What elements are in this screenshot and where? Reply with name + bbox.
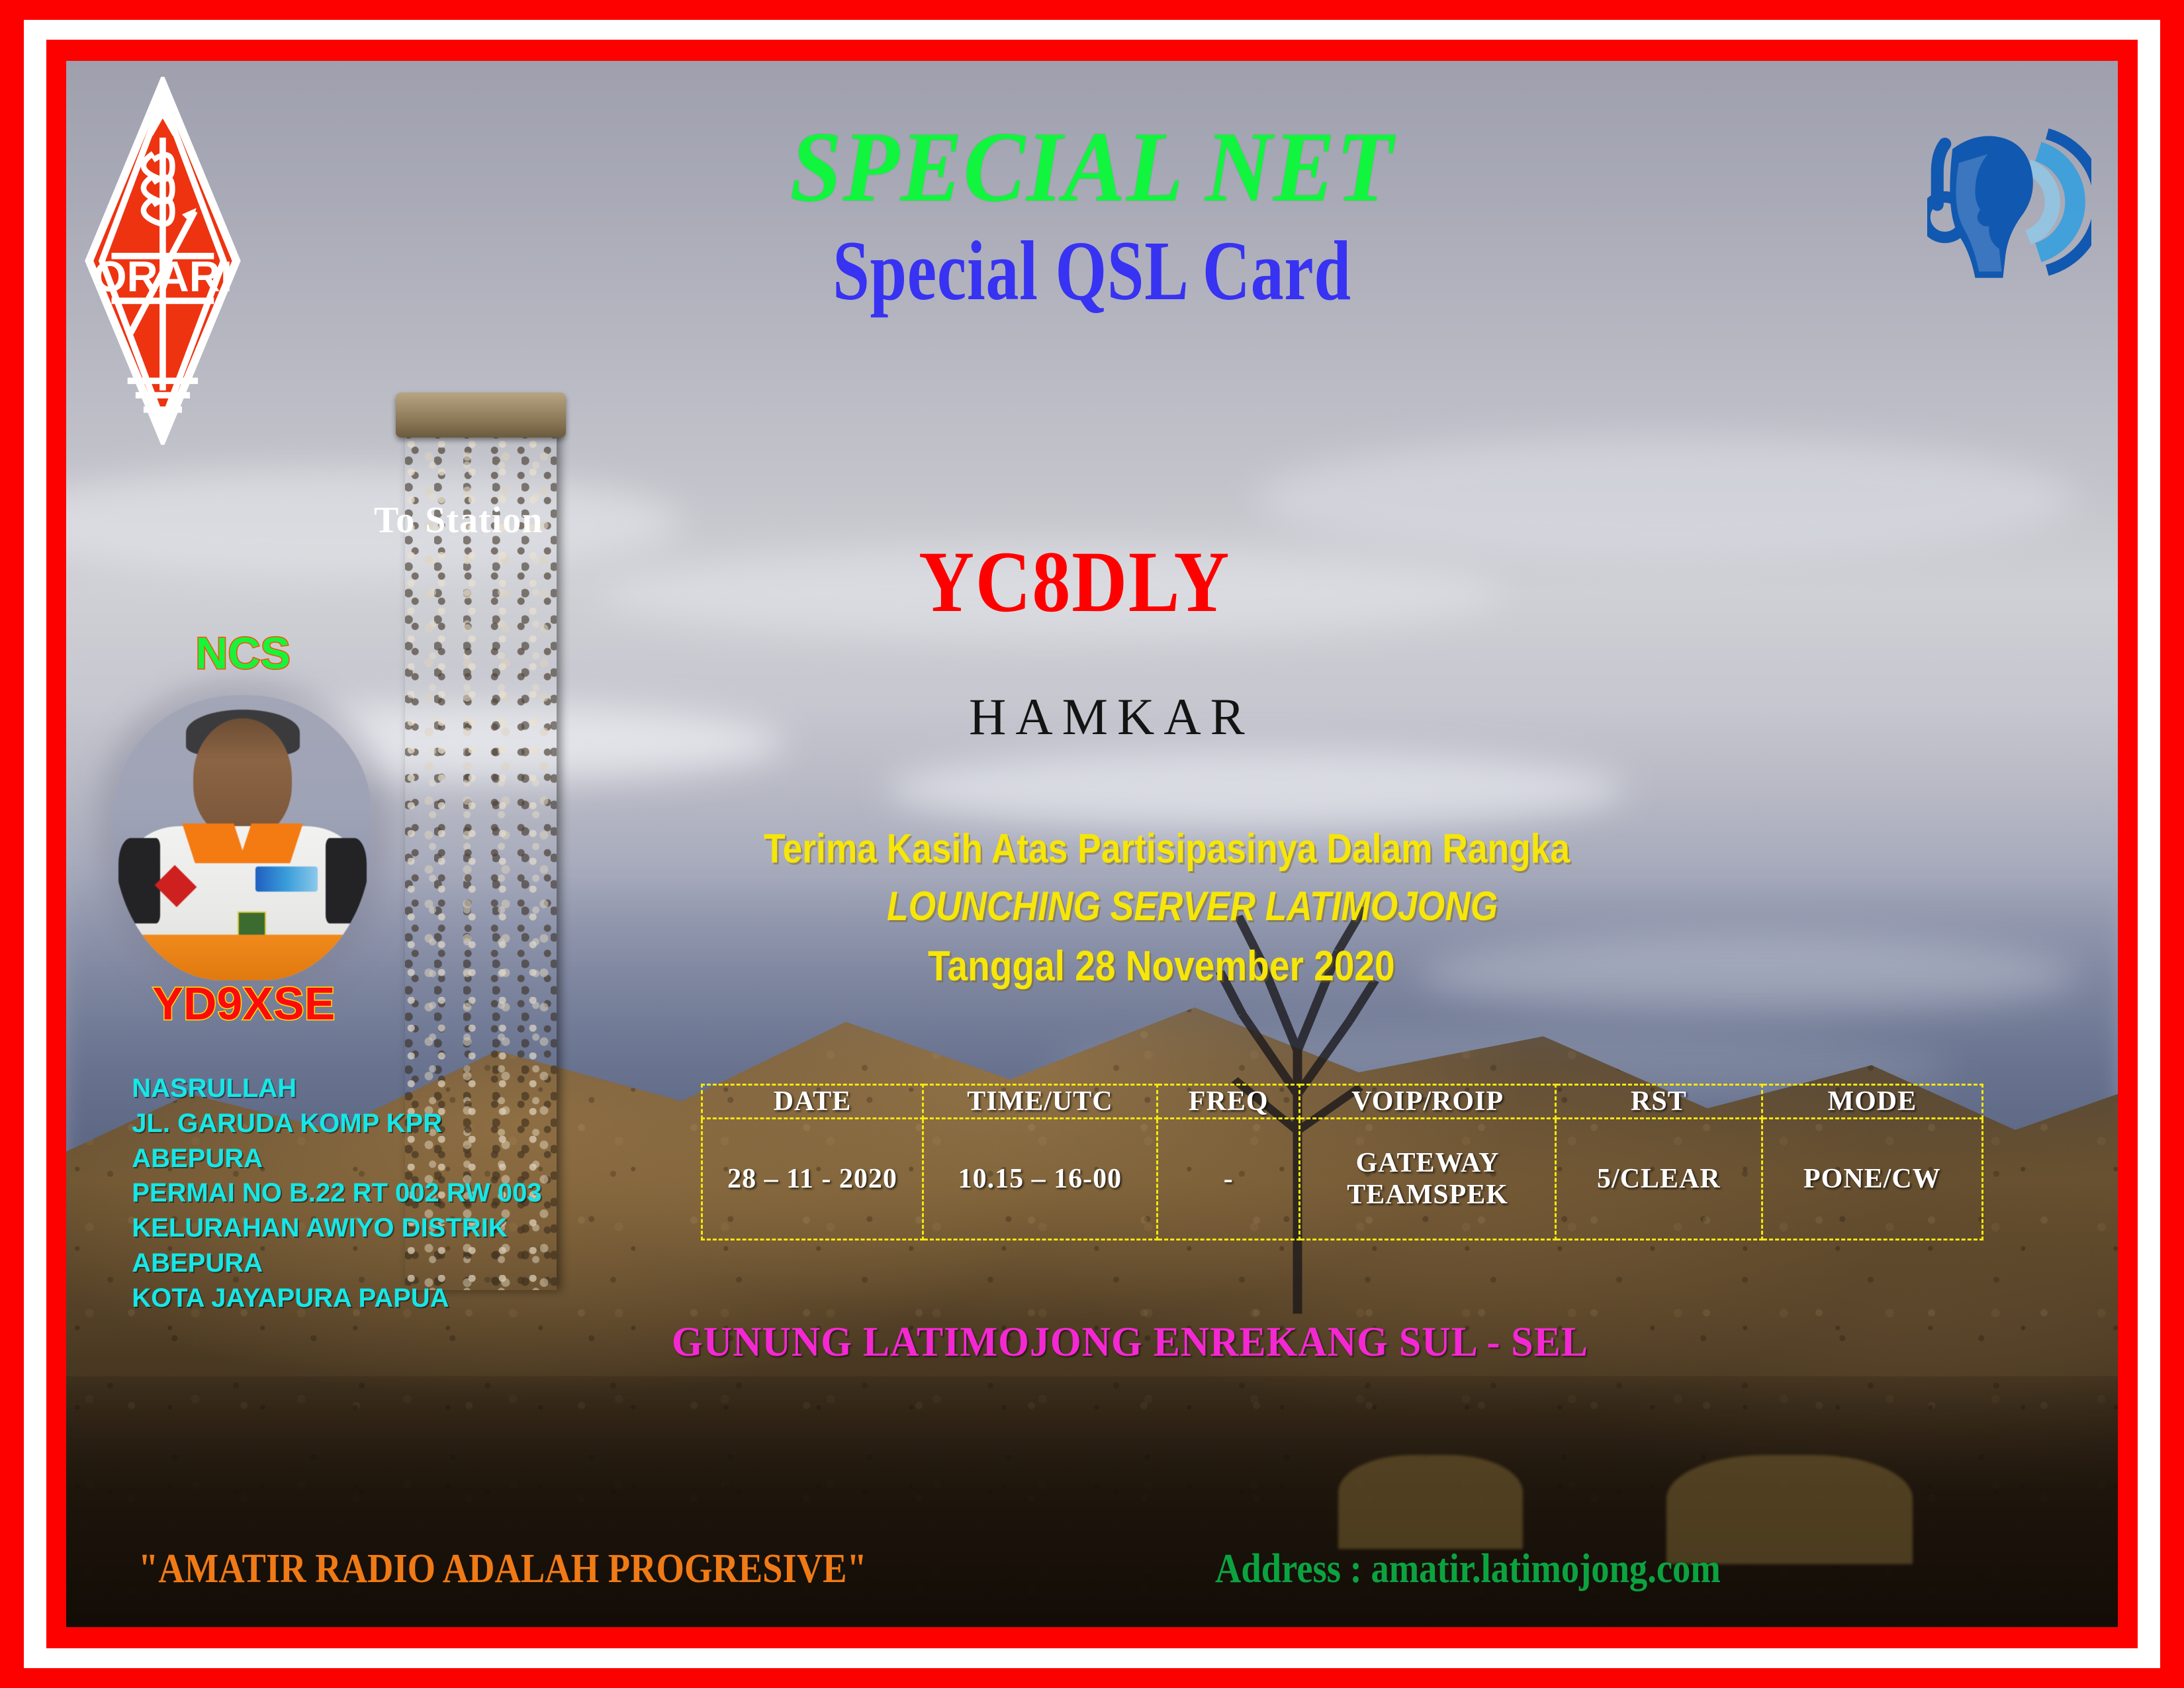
web-address-text: Address : amatir.latimojong.com xyxy=(1215,1546,1721,1593)
address-line: ABEPURA xyxy=(132,1246,541,1281)
cell-date: 28 – 11 - 2020 xyxy=(702,1118,923,1239)
slogan-text: "AMATIR RADIO ADALAH PROGRESIVE" xyxy=(138,1546,867,1593)
operator-face xyxy=(193,718,291,838)
uniform-sleeve-left xyxy=(118,838,159,923)
cell-time: 10.15 – 16-00 xyxy=(923,1118,1158,1239)
column-header-rst: RST xyxy=(1556,1084,1762,1118)
column-header-time: TIME/UTC xyxy=(923,1084,1158,1118)
operator-photo xyxy=(113,695,372,980)
column-header-freq: FREQ xyxy=(1158,1084,1300,1118)
uniform-chest-logo xyxy=(255,867,318,892)
page-title: SPECIAL NET xyxy=(148,109,2036,224)
column-header-mode: MODE xyxy=(1762,1084,1982,1118)
table-row: 28 – 11 - 2020 10.15 – 16-00 - GATEWAY T… xyxy=(702,1118,1983,1239)
orari-logo-text: ORARI xyxy=(93,252,232,301)
address-line: KELURAHAN AWIYO DISTRIK xyxy=(132,1211,541,1246)
table-header-row: DATE TIME/UTC FREQ VOIP/ROIP RST MODE xyxy=(702,1084,1983,1118)
uniform-orange-sash xyxy=(129,935,357,980)
cell-voip-line-1: GATEWAY xyxy=(1300,1147,1555,1179)
thanks-line-2: LOUNCHING SERVER LATIMOJONG xyxy=(887,883,1498,930)
cell-voip: GATEWAY TEAMSPEK xyxy=(1300,1118,1556,1239)
operator-callsign: YD9XSE xyxy=(152,977,335,1030)
operator-address: NASRULLAH JL. GARUDA KOMP KPR ABEPURA PE… xyxy=(132,1071,541,1316)
page-subtitle: Special QSL Card xyxy=(292,222,1892,320)
cell-freq: - xyxy=(1158,1118,1300,1239)
cell-rst: 5/CLEAR xyxy=(1556,1118,1762,1239)
address-line: KOTA JAYAPURA PAPUA xyxy=(132,1281,541,1316)
address-line: ABEPURA xyxy=(132,1141,541,1176)
uniform-sleeve-right xyxy=(326,838,367,923)
column-header-voip: VOIP/ROIP xyxy=(1300,1084,1556,1118)
cell-voip-line-2: TEAMSPEK xyxy=(1300,1179,1555,1211)
thanks-line-1: Terima Kasih Atas Partisipasinya Dalam R… xyxy=(764,825,1570,872)
address-line: JL. GARUDA KOMP KPR xyxy=(132,1106,541,1141)
organization-name: HAMKAR xyxy=(969,687,1254,747)
qsl-card: ORARI SPECIAL NET Special QSL Card xyxy=(0,0,2184,1688)
photo-scene: ORARI SPECIAL NET Special QSL Card xyxy=(66,61,2118,1627)
event-date-line: Tanggal 28 November 2020 xyxy=(928,941,1395,990)
qso-details-table: DATE TIME/UTC FREQ VOIP/ROIP RST MODE 28… xyxy=(701,1084,1983,1241)
station-callsign: YC8DLY xyxy=(919,531,1230,632)
address-line: NASRULLAH xyxy=(132,1071,541,1106)
address-line: PERMAI NO B.22 RT 002 RW 003 xyxy=(132,1176,541,1211)
ncs-role-label: NCS xyxy=(195,628,291,679)
column-header-date: DATE xyxy=(702,1084,923,1118)
cell-mode: PONE/CW xyxy=(1762,1118,1982,1239)
to-station-label: To Station xyxy=(374,499,543,541)
location-caption: GUNUNG LATIMOJONG ENREKANG SUL - SEL xyxy=(672,1317,1588,1366)
